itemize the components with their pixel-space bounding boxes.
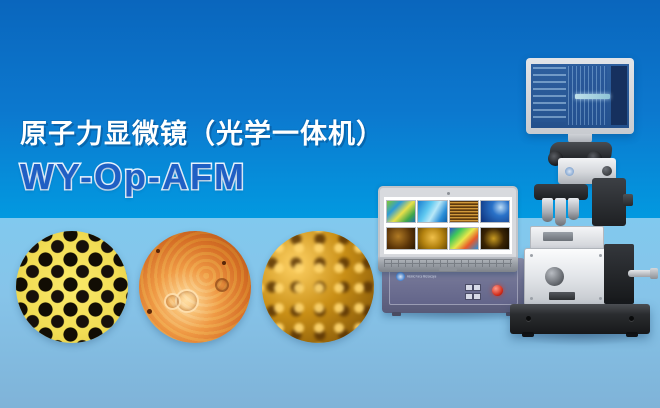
sample-grain-topography bbox=[262, 231, 374, 343]
headline-block: 原子力显微镜（光学一体机） WY-Op-AFM bbox=[20, 120, 384, 195]
dark-pit bbox=[222, 261, 226, 265]
scan-image bbox=[417, 227, 447, 250]
screen-panel-right bbox=[611, 66, 627, 125]
controller-button-grid bbox=[465, 284, 479, 300]
focus-knob bbox=[602, 166, 612, 176]
lcd-monitor bbox=[526, 58, 634, 134]
scan-thumbnail bbox=[450, 200, 478, 224]
panel-screw bbox=[599, 297, 602, 300]
base-hole bbox=[526, 316, 531, 321]
controller-brand-text: Atomic Force Microscope bbox=[407, 274, 436, 279]
laptop-base bbox=[378, 257, 518, 272]
laptop-lid bbox=[378, 186, 518, 257]
sample-plate bbox=[549, 292, 575, 300]
touchpad bbox=[439, 268, 457, 271]
controller-button bbox=[473, 293, 481, 300]
grain-texture bbox=[262, 231, 374, 343]
granite-base bbox=[510, 304, 650, 334]
page-title: 原子力显微镜（光学一体机） bbox=[20, 120, 384, 150]
scan-thumbnail bbox=[387, 227, 415, 251]
product-banner: 原子力显微镜（光学一体机） WY-Op-AFM bbox=[0, 0, 660, 408]
keyboard bbox=[384, 259, 512, 267]
scan-thumbnail bbox=[418, 200, 446, 224]
microscope-reflection bbox=[514, 334, 646, 346]
optical-afm-microscope bbox=[500, 58, 660, 348]
scan-image bbox=[417, 200, 447, 223]
scan-image bbox=[449, 200, 479, 223]
sample-cell-surface bbox=[139, 231, 251, 343]
scan-image bbox=[386, 227, 416, 250]
scan-thumbnail bbox=[418, 227, 446, 251]
laptop-screen bbox=[384, 197, 512, 254]
controller-button bbox=[473, 284, 481, 291]
ring-structure bbox=[164, 293, 181, 310]
panel-screw bbox=[530, 254, 533, 257]
brand-logo-icon bbox=[565, 167, 574, 176]
pore-dots-layer-offset bbox=[16, 231, 128, 343]
scan-image bbox=[449, 227, 479, 250]
controller-branding: Atomic Force Microscope bbox=[396, 272, 436, 281]
scan-image bbox=[386, 200, 416, 223]
panel-screw bbox=[599, 254, 602, 257]
panel-screw bbox=[530, 297, 533, 300]
sample-nanopore-array bbox=[16, 231, 128, 343]
dark-pit bbox=[147, 309, 152, 314]
sample-image-group bbox=[16, 231, 374, 343]
objective-lens bbox=[568, 198, 579, 220]
dark-pit bbox=[156, 249, 160, 253]
adjustment-rod bbox=[628, 270, 654, 277]
monitor-screen bbox=[531, 64, 629, 128]
screen-panel-left bbox=[533, 67, 566, 122]
specimen-stage bbox=[530, 226, 604, 250]
ring-structure bbox=[215, 278, 229, 292]
objective-lens bbox=[555, 198, 566, 226]
scanner-dial bbox=[545, 267, 564, 286]
terrain-texture bbox=[139, 231, 251, 343]
brand-logo-icon bbox=[396, 272, 405, 281]
stage-slot bbox=[543, 232, 573, 241]
base-hole bbox=[629, 316, 634, 321]
controller-button bbox=[465, 284, 473, 291]
scan-thumbnail bbox=[387, 200, 415, 224]
camera-port bbox=[623, 194, 633, 206]
analysis-laptop bbox=[378, 186, 518, 272]
controller-button bbox=[465, 293, 473, 300]
cantilever-probe-view bbox=[575, 94, 610, 99]
objective-lens bbox=[542, 198, 553, 222]
product-model: WY-Op-AFM bbox=[20, 159, 384, 195]
illuminator-housing bbox=[592, 178, 626, 226]
controller-foot bbox=[392, 312, 401, 316]
scan-thumbnail bbox=[450, 227, 478, 251]
objective-lens-group bbox=[542, 198, 580, 228]
afm-scanner-head bbox=[524, 248, 608, 306]
webcam-icon bbox=[447, 192, 450, 195]
